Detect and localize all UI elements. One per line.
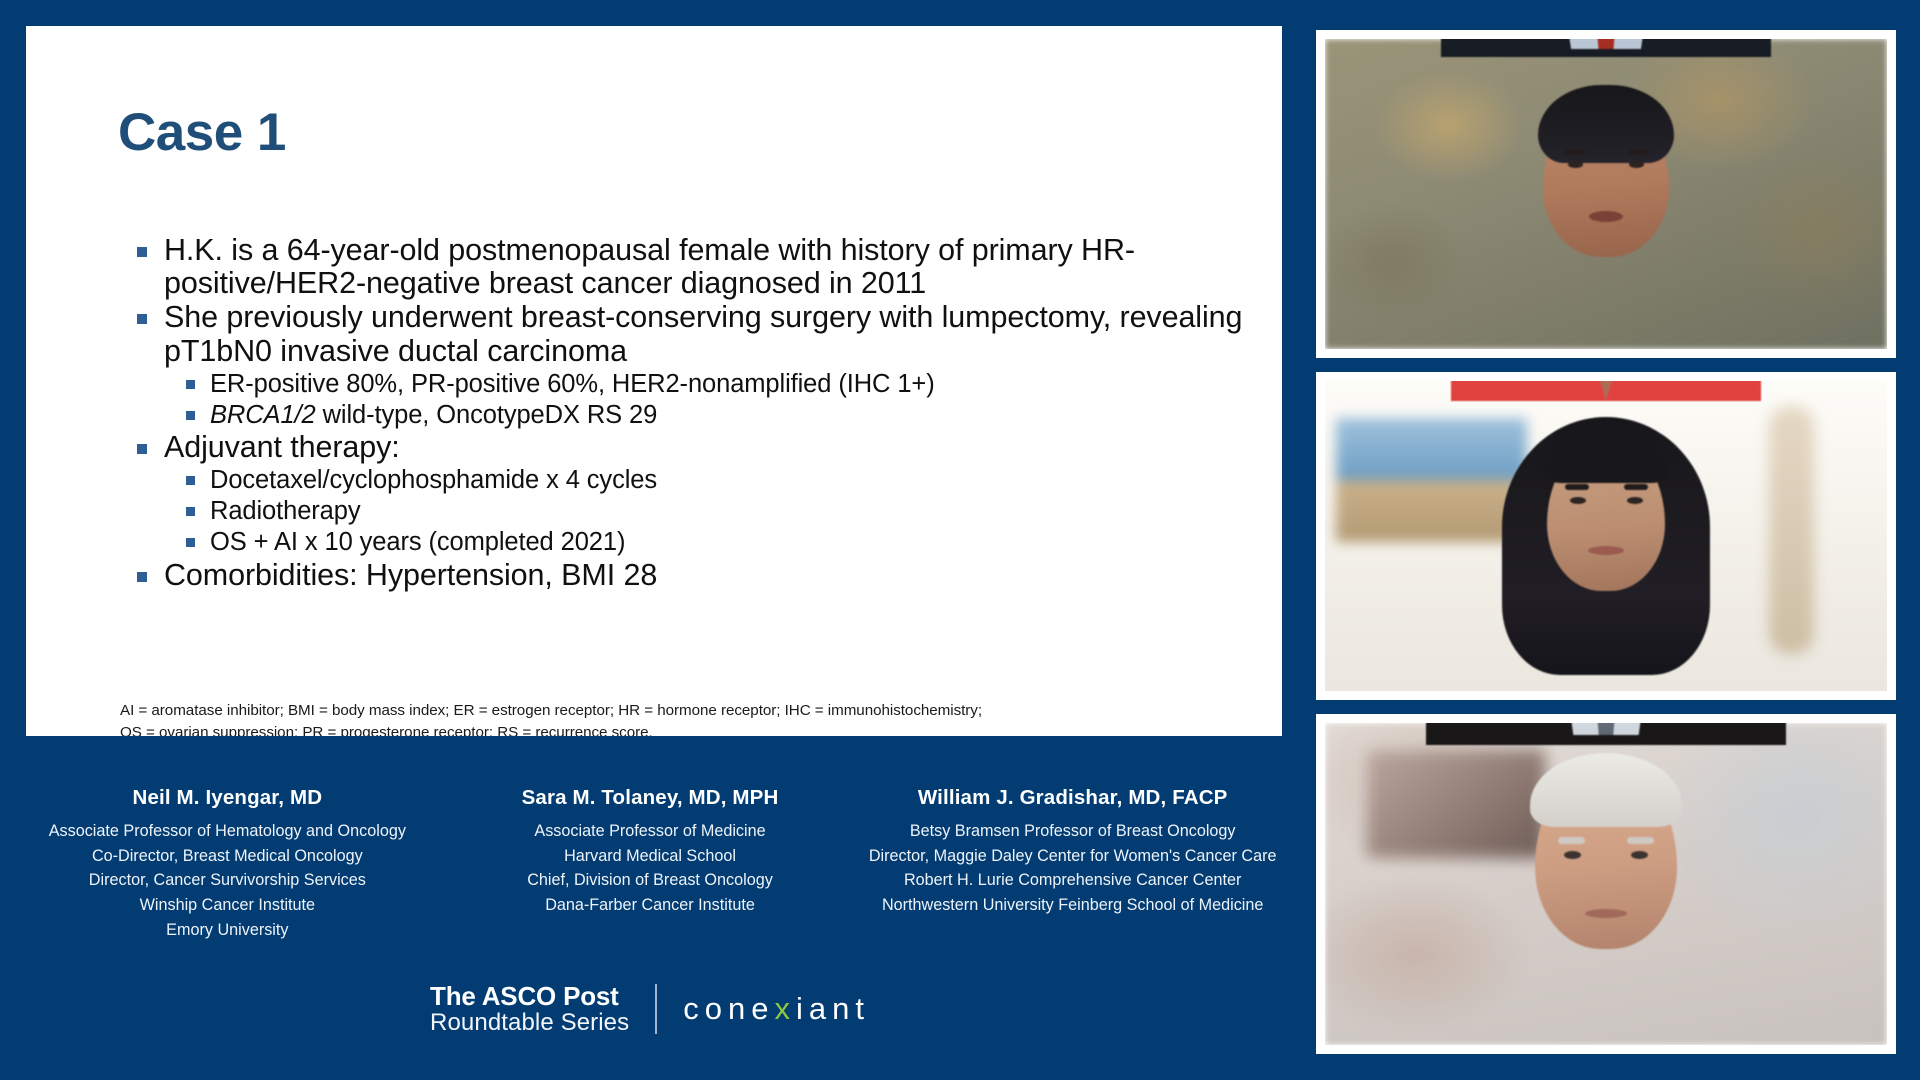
- eye-left: [1570, 497, 1586, 504]
- faculty-affiliation: Chief, Division of Breast Oncology: [443, 868, 858, 893]
- bullet-item: Adjuvant therapy:: [134, 431, 1244, 464]
- video-tile-participant-1[interactable]: [1316, 30, 1896, 358]
- faculty-column: Sara M. Tolaney, MD, MPH Associate Profe…: [439, 786, 862, 942]
- sub-bullet-item: OS + AI x 10 years (completed 2021): [182, 527, 1244, 557]
- bullet-square-icon: [137, 572, 147, 582]
- bullet-item: Comorbidities: Hypertension, BMI 28: [134, 559, 1244, 592]
- conexiant-logo: conexiant: [683, 991, 870, 1027]
- eyebrow-right: [1627, 149, 1649, 155]
- eyebrow-right: [1624, 484, 1648, 490]
- eyebrow-left: [1558, 837, 1585, 844]
- video-feed[interactable]: [1325, 39, 1887, 349]
- eyebrow-left: [1563, 149, 1585, 155]
- sub-bullet-item: ER-positive 80%, PR-positive 60%, HER2-n…: [182, 369, 1244, 399]
- sub-bullet-group: Docetaxel/cyclophosphamide x 4 cycles Ra…: [134, 465, 1244, 557]
- sub-bullet-list: Docetaxel/cyclophosphamide x 4 cycles Ra…: [182, 465, 1244, 557]
- sub-bullet-text: wild-type, OncotypeDX RS 29: [316, 401, 658, 429]
- logo-bar: The ASCO Post Roundtable Series conexian…: [0, 982, 1300, 1037]
- presentation-stage: Case 1 H.K. is a 64-year-old postmenopau…: [0, 0, 1920, 1080]
- sub-bullet-item: BRCA1/2 wild-type, OncotypeDX RS 29: [182, 400, 1244, 430]
- bullet-square-icon: [186, 538, 195, 547]
- conexiant-text-before: cone: [683, 991, 774, 1026]
- faculty-name: William J. Gradishar, MD, FACP: [865, 786, 1280, 810]
- asco-post-title: The ASCO Post: [430, 982, 629, 1010]
- logo-divider: [655, 984, 657, 1034]
- faculty-affiliation: Associate Professor of Medicine: [443, 819, 858, 844]
- bullet-square-icon: [186, 507, 195, 516]
- sub-bullet-text: ER-positive 80%, PR-positive 60%, HER2-n…: [210, 370, 935, 398]
- footnote-line: OS = ovarian suppression; PR = progester…: [120, 722, 982, 736]
- abbreviations-footnote: AI = aromatase inhibitor; BMI = body mas…: [120, 700, 982, 736]
- faculty-column: Neil M. Iyengar, MD Associate Professor …: [16, 786, 439, 942]
- floor-lamp: [1769, 406, 1814, 654]
- footnote-line: AI = aromatase inhibitor; BMI = body mas…: [120, 700, 982, 722]
- bullet-square-icon: [137, 444, 147, 454]
- sub-bullet-text: Docetaxel/cyclophosphamide x 4 cycles: [210, 466, 657, 494]
- sub-bullet-group: ER-positive 80%, PR-positive 60%, HER2-n…: [134, 369, 1244, 430]
- mouth: [1585, 909, 1627, 918]
- eyebrow-right: [1627, 837, 1654, 844]
- faculty-affiliation: Emory University: [20, 918, 435, 943]
- faculty-credits: Neil M. Iyengar, MD Associate Professor …: [0, 786, 1300, 942]
- video-feed[interactable]: [1325, 723, 1887, 1045]
- gene-name-emphasis: BRCA1/2: [210, 401, 316, 429]
- asco-post-subtitle: Roundtable Series: [430, 1010, 629, 1037]
- video-tile-participant-2[interactable]: [1316, 372, 1896, 700]
- mouth: [1589, 211, 1623, 222]
- bullet-text: Comorbidities: Hypertension, BMI 28: [164, 558, 657, 592]
- video-tile-participant-3[interactable]: [1316, 714, 1896, 1054]
- conexiant-text-after: iant: [796, 991, 870, 1026]
- eye-right: [1627, 497, 1643, 504]
- faculty-affiliation: Dana-Farber Cancer Institute: [443, 893, 858, 918]
- faculty-affiliation: Harvard Medical School: [443, 844, 858, 869]
- eye-left: [1568, 161, 1583, 168]
- faculty-affiliation: Winship Cancer Institute: [20, 893, 435, 918]
- bullet-text: Adjuvant therapy:: [164, 430, 400, 464]
- sub-bullet-item: Docetaxel/cyclophosphamide x 4 cycles: [182, 465, 1244, 495]
- eye-left: [1564, 851, 1581, 859]
- faculty-name: Sara M. Tolaney, MD, MPH: [443, 786, 858, 810]
- bullet-item: She previously underwent breast-conservi…: [134, 301, 1244, 367]
- faculty-affiliation: Co-Director, Breast Medical Oncology: [20, 844, 435, 869]
- wall-art: [1336, 418, 1527, 542]
- faculty-affiliation: Director, Cancer Survivorship Services: [20, 868, 435, 893]
- faculty-affiliation: Robert H. Lurie Comprehensive Cancer Cen…: [865, 868, 1280, 893]
- faculty-affiliation: Betsy Bramsen Professor of Breast Oncolo…: [865, 819, 1280, 844]
- asco-post-logo: The ASCO Post Roundtable Series: [430, 982, 629, 1037]
- faculty-name: Neil M. Iyengar, MD: [20, 786, 435, 810]
- video-feed[interactable]: [1325, 381, 1887, 691]
- bullet-square-icon: [186, 411, 195, 420]
- bullet-square-icon: [137, 247, 147, 257]
- framed-picture: [1359, 742, 1553, 865]
- sub-bullet-list: ER-positive 80%, PR-positive 60%, HER2-n…: [182, 369, 1244, 430]
- bullet-text: She previously underwent breast-conservi…: [164, 300, 1242, 367]
- faculty-affiliation: Director, Maggie Daley Center for Women'…: [865, 844, 1280, 869]
- eye-right: [1631, 851, 1648, 859]
- bullet-item: H.K. is a 64-year-old postmenopausal fem…: [134, 234, 1244, 300]
- faculty-affiliation: Associate Professor of Hematology and On…: [20, 819, 435, 844]
- faculty-affiliation: Northwestern University Feinberg School …: [865, 893, 1280, 918]
- bullet-list: H.K. is a 64-year-old postmenopausal fem…: [134, 234, 1244, 592]
- sub-bullet-text: OS + AI x 10 years (completed 2021): [210, 528, 625, 556]
- mouth: [1588, 546, 1624, 555]
- conexiant-accent-letter: x: [774, 991, 796, 1026]
- bullet-square-icon: [186, 476, 195, 485]
- bullet-square-icon: [186, 380, 195, 389]
- bullet-square-icon: [137, 314, 147, 324]
- sub-bullet-text: Radiotherapy: [210, 497, 360, 525]
- faculty-column: William J. Gradishar, MD, FACP Betsy Bra…: [861, 786, 1284, 942]
- eye-right: [1629, 161, 1644, 168]
- bullet-text: H.K. is a 64-year-old postmenopausal fem…: [164, 233, 1135, 300]
- slide-panel: Case 1 H.K. is a 64-year-old postmenopau…: [26, 26, 1282, 736]
- page-title: Case 1: [118, 106, 286, 159]
- sub-bullet-item: Radiotherapy: [182, 496, 1244, 526]
- eyebrow-left: [1565, 484, 1589, 490]
- slide-body: H.K. is a 64-year-old postmenopausal fem…: [134, 234, 1244, 593]
